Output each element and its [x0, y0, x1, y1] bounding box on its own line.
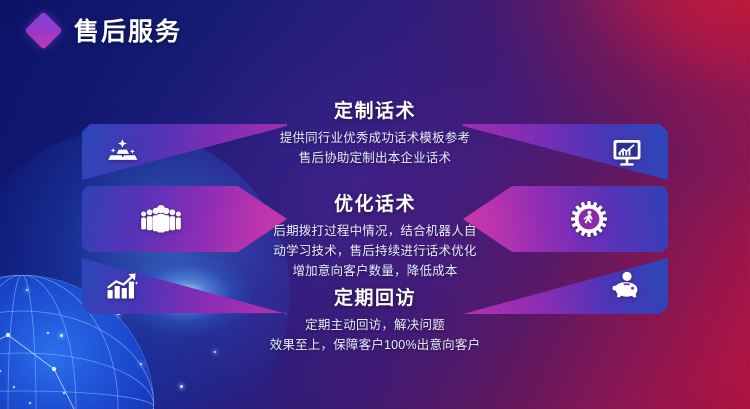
- vignette-overlay: [0, 0, 750, 409]
- piggy-bank-icon: [604, 258, 650, 314]
- growth-chart-icon: [100, 258, 146, 314]
- gear-person-icon: [566, 186, 612, 252]
- slide-canvas: 售后服务: [0, 0, 750, 409]
- gold-bars-icon: [100, 124, 146, 180]
- presentation-chart-icon: [604, 124, 650, 180]
- people-group-icon: [138, 186, 184, 252]
